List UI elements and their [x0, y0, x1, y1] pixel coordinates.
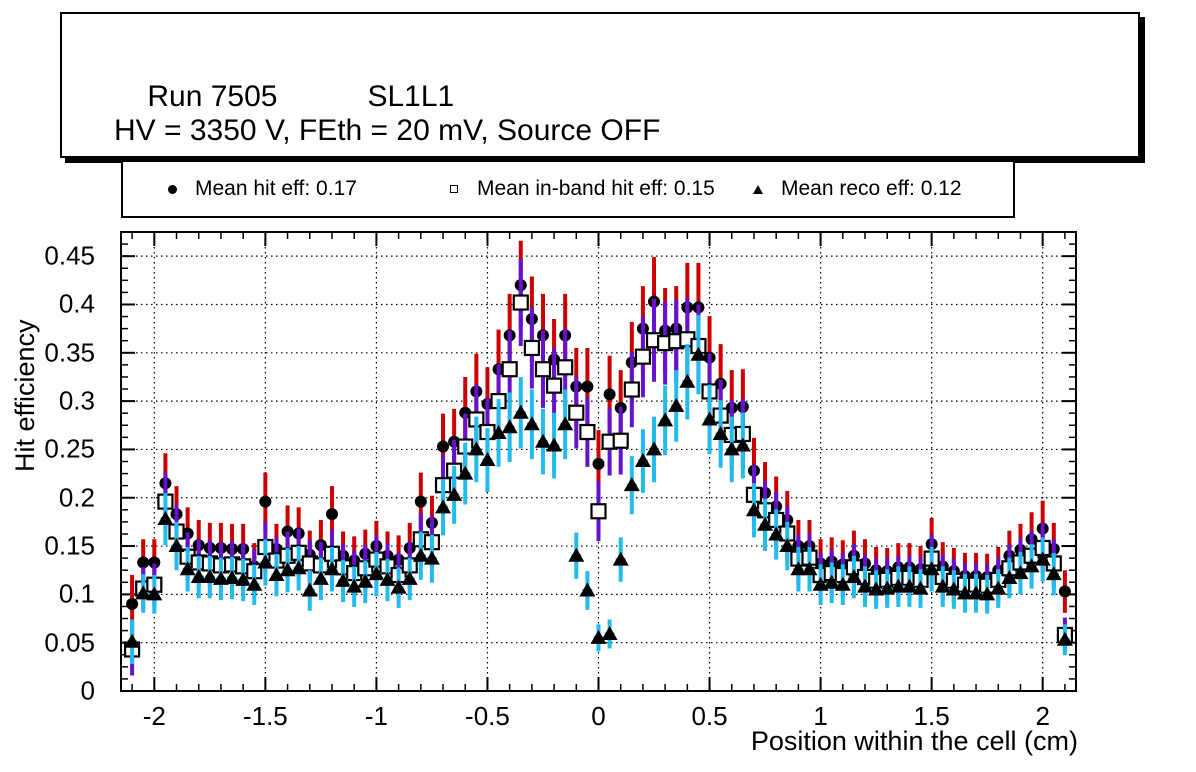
y-tick-label: 0.1	[0, 579, 95, 610]
data-point-square	[625, 383, 639, 397]
data-point-square	[503, 362, 517, 376]
data-point-square	[592, 504, 606, 518]
legend-label-reco-eff: Mean reco eff: 0.12	[781, 177, 962, 201]
y-tick-label: 0	[0, 676, 95, 707]
data-point-square	[525, 341, 539, 355]
data-point-circle	[1059, 585, 1071, 597]
x-tick-label: -2	[143, 701, 166, 732]
run-label: Run 7505	[147, 80, 277, 114]
filled-triangle-marker-icon	[735, 185, 781, 194]
x-tick-label: -0.5	[465, 701, 510, 732]
title-line-2: HV = 3350 V, FEth = 20 mV, Source OFF	[114, 114, 660, 148]
data-point-circle	[126, 598, 138, 610]
x-tick-label: -1	[365, 701, 388, 732]
legend-box: Mean hit eff: 0.17 Mean in-band hit eff:…	[121, 160, 1015, 218]
filled-circle-marker-icon	[149, 185, 195, 194]
data-point-square	[547, 379, 561, 393]
data-point-circle	[593, 458, 605, 470]
data-point-square	[636, 350, 650, 364]
chamber-label: SL1L1	[367, 80, 454, 114]
data-point-circle	[259, 496, 271, 508]
data-point-circle	[604, 388, 616, 400]
y-tick-label: 0.2	[0, 482, 95, 513]
legend-label-hit-eff: Mean hit eff: 0.17	[195, 177, 357, 201]
x-axis-title: Position within the cell (cm)	[751, 726, 1078, 757]
legend-entry-inband-hit-eff: Mean in-band hit eff: 0.15	[423, 162, 721, 216]
title-box: Run 7505SL1L1 HV = 3350 V, FEth = 20 mV,…	[60, 12, 1140, 158]
legend-label-inband-hit-eff: Mean in-band hit eff: 0.15	[477, 177, 715, 201]
data-point-square	[569, 406, 583, 420]
legend-entry-reco-eff: Mean reco eff: 0.12	[721, 162, 1013, 216]
y-axis-title: Hit efficiency	[10, 232, 46, 472]
data-point-circle	[326, 508, 338, 520]
data-point-square	[536, 362, 550, 376]
data-point-square	[614, 434, 628, 448]
data-point-circle	[137, 556, 149, 568]
data-point-square	[514, 296, 528, 310]
legend-entry-hit-eff: Mean hit eff: 0.17	[123, 162, 423, 216]
data-point-circle	[581, 381, 593, 393]
data-point-circle	[415, 496, 427, 508]
x-tick-label: -1.5	[243, 701, 288, 732]
x-tick-label: 0.5	[691, 701, 727, 732]
y-tick-label: 0.05	[0, 627, 95, 658]
data-point-square	[558, 360, 572, 374]
x-tick-label: 0	[591, 701, 605, 732]
data-point-square	[580, 425, 594, 439]
y-tick-label: 0.15	[0, 531, 95, 562]
open-square-marker-icon	[431, 185, 477, 193]
data-point-circle	[437, 441, 449, 453]
